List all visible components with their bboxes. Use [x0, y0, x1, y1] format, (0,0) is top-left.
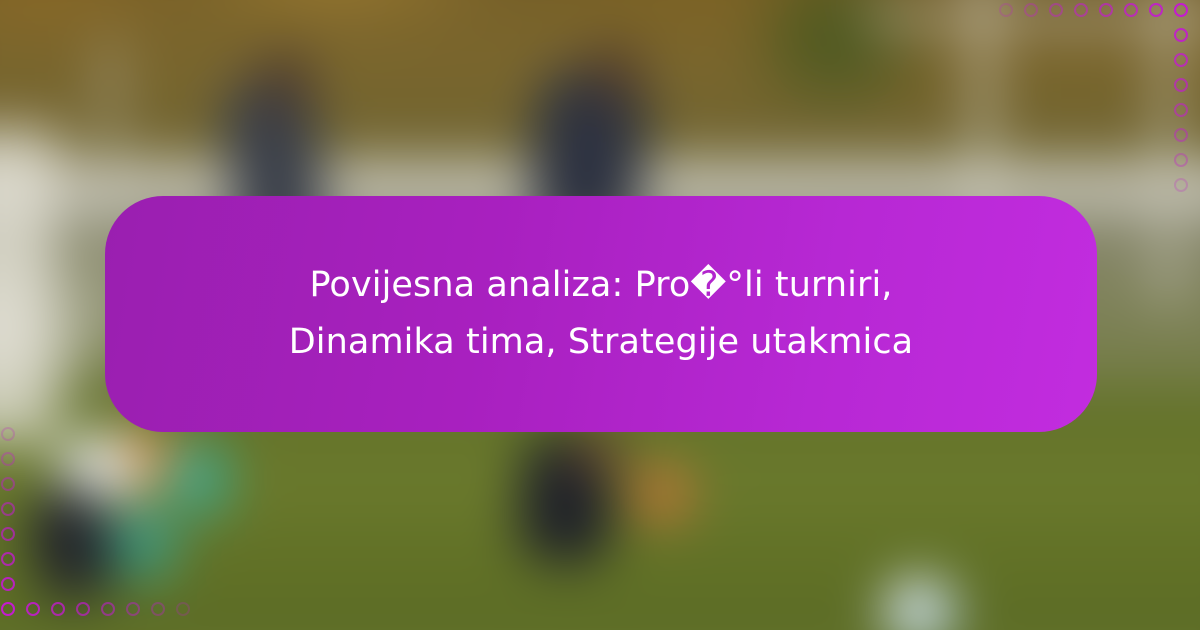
decorative-dot	[1074, 3, 1088, 17]
social-card-stage: Povijesna analiza: Pro�°li turniri, Dina…	[0, 0, 1200, 630]
decorative-dot	[1, 427, 15, 441]
decorative-dot	[1149, 3, 1163, 17]
decorative-dot	[1174, 103, 1188, 117]
decorative-dot	[101, 602, 115, 616]
decorative-dot	[1174, 128, 1188, 142]
decorative-dot	[1174, 178, 1188, 192]
title-card: Povijesna analiza: Pro�°li turniri, Dina…	[105, 196, 1097, 432]
decorative-dot	[999, 3, 1013, 17]
decorative-dot	[1, 477, 15, 491]
goal-net-panel	[0, 128, 59, 443]
dot-grid-bottom-left	[1, 427, 201, 627]
player-background-two-head	[587, 45, 641, 105]
decorative-dot	[1174, 28, 1188, 42]
player-background-one-head	[257, 53, 313, 115]
player-foreground-three-kit	[633, 465, 691, 523]
decorative-dot	[1174, 78, 1188, 92]
decorative-dot	[76, 602, 90, 616]
decorative-dot	[1174, 153, 1188, 167]
decorative-dot	[1049, 3, 1063, 17]
decorative-dot	[1, 502, 15, 516]
decorative-dot	[1174, 3, 1188, 17]
decorative-dot	[176, 602, 190, 616]
decorative-dot	[26, 602, 40, 616]
decorative-dot	[1, 452, 15, 466]
decorative-dot	[51, 602, 65, 616]
decorative-dot	[1124, 3, 1138, 17]
decorative-dot	[1, 602, 15, 616]
card-title: Povijesna analiza: Pro�°li turniri, Dina…	[221, 257, 981, 370]
decorative-dot	[1, 577, 15, 591]
decorative-dot	[1174, 53, 1188, 67]
decorative-dot	[1, 552, 15, 566]
decorative-dot	[1099, 3, 1113, 17]
decorative-dot	[1024, 3, 1038, 17]
decorative-dot	[126, 602, 140, 616]
dot-grid-top-right	[999, 3, 1199, 203]
decorative-dot	[151, 602, 165, 616]
decorative-dot	[1, 527, 15, 541]
